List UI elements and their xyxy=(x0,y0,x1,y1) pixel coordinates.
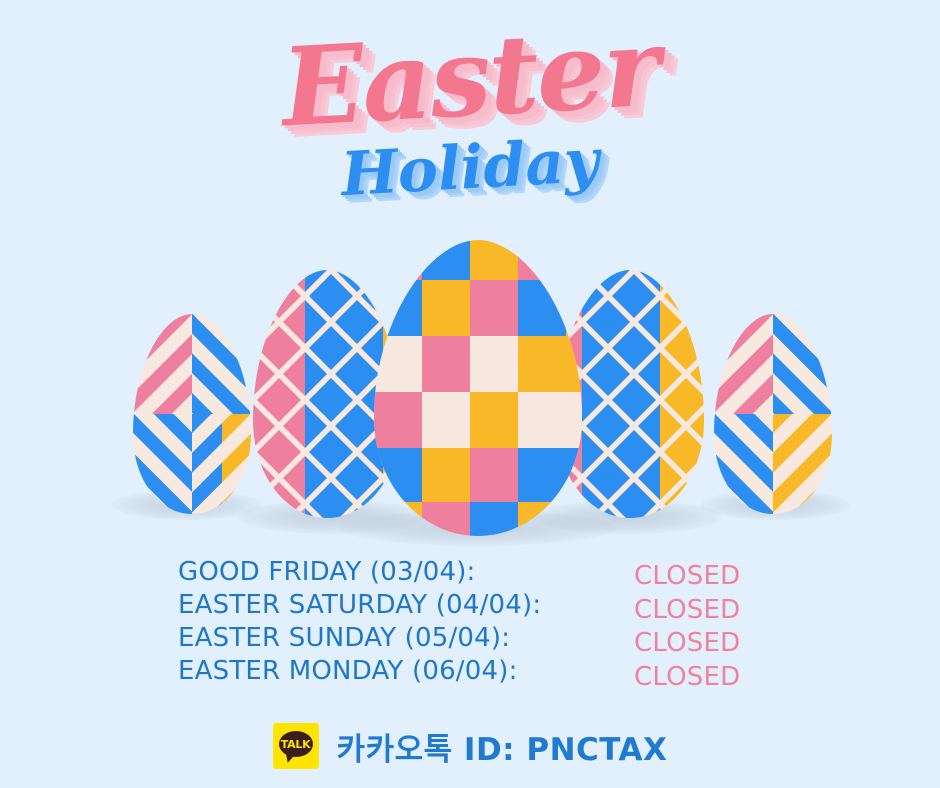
schedule-label-easter-monday: EASTER MONDAY (06/04): xyxy=(178,655,638,688)
egg-small-right xyxy=(714,314,832,514)
status-badge-easter-sunday: CLOSED xyxy=(634,627,894,661)
title-block: Easter Holiday xyxy=(0,0,940,225)
easter-holiday-poster: Easter Holiday xyxy=(0,0,940,788)
kakaotalk-id-text: 카카오톡 ID: PNCTAX xyxy=(337,724,668,769)
status-badge-easter-saturday: CLOSED xyxy=(634,594,894,628)
kakaotalk-badge-label: TALK xyxy=(279,731,313,757)
status-badge-easter-monday: CLOSED xyxy=(634,661,894,695)
easter-eggs-illustration xyxy=(0,228,940,540)
egg-small-left xyxy=(133,314,251,514)
schedule-labels: GOOD FRIDAY (03/04): EASTER SATURDAY (04… xyxy=(178,556,638,688)
schedule-label-good-friday: GOOD FRIDAY (03/04): xyxy=(178,556,638,589)
schedule-label-easter-sunday: EASTER SUNDAY (05/04): xyxy=(178,622,638,655)
schedule-label-easter-saturday: EASTER SATURDAY (04/04): xyxy=(178,589,638,622)
schedule-statuses: CLOSED CLOSED CLOSED CLOSED xyxy=(634,560,894,694)
egg-large-center xyxy=(374,240,582,536)
footer-contact: TALK 카카오톡 ID: PNCTAX xyxy=(0,716,940,776)
status-badge-good-friday: CLOSED xyxy=(634,560,894,594)
kakaotalk-icon: TALK xyxy=(273,723,319,769)
